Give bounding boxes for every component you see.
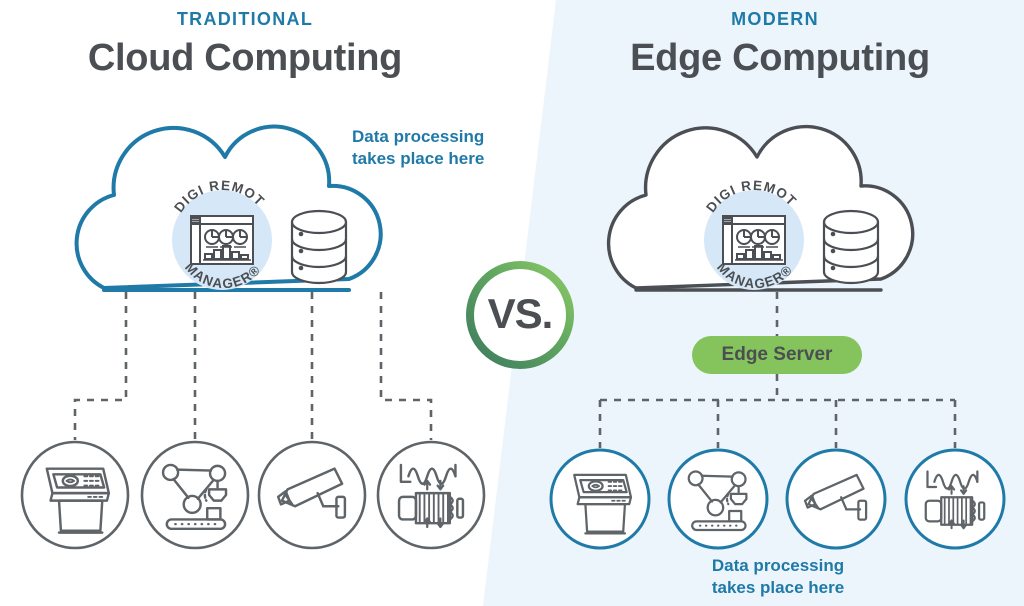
connectors-left (75, 292, 431, 440)
device-kiosk-right[interactable] (551, 450, 649, 548)
edge-server-label: Edge Server (722, 344, 833, 366)
dashboard-icon-left (191, 216, 253, 264)
device-kiosk-left[interactable] (22, 442, 128, 548)
device-robotic-arm-left[interactable] (142, 442, 248, 548)
vs-badge: VS. (463, 258, 577, 372)
edge-server-badge[interactable]: Edge Server (692, 336, 862, 374)
left-diagram: DIGI REMOTE MANAGER® (0, 0, 484, 548)
database-icon-left (292, 211, 346, 283)
infographic-canvas: DIGI REMOTE MANAGER® (0, 0, 1024, 606)
device-security-camera-left[interactable] (259, 442, 365, 548)
device-industrial-motor-left[interactable] (378, 442, 484, 548)
device-industrial-motor-right[interactable] (906, 450, 1004, 548)
database-icon-right (824, 211, 878, 283)
device-robotic-arm-right[interactable] (669, 450, 767, 548)
device-security-camera-right[interactable] (787, 450, 885, 548)
dashboard-icon-right (723, 216, 785, 264)
vs-label: VS. (463, 258, 577, 372)
